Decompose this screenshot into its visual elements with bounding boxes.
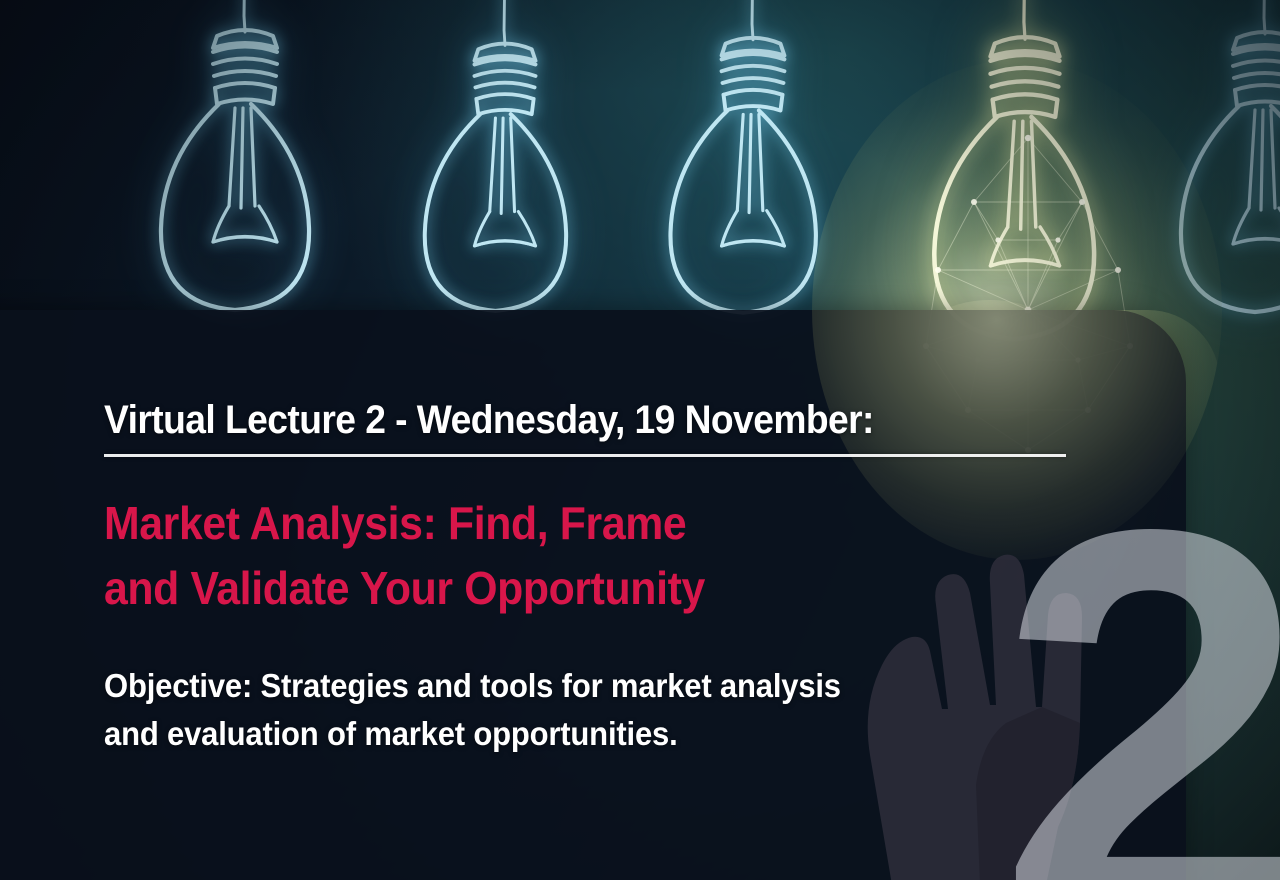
kicker-underline [104,454,1066,457]
slide-headline: Market Analysis: Find, Frame and Validat… [104,491,705,622]
slide-objective: Objective: Strategies and tools for mark… [104,662,841,758]
slide-text-content: Virtual Lecture 2 - Wednesday, 19 Novemb… [0,0,1280,880]
lecture-kicker: Virtual Lecture 2 - Wednesday, 19 Novemb… [104,398,874,443]
lecture-title-slide: 2 Virtual Lecture 2 - Wednesday, 19 Nove… [0,0,1280,880]
